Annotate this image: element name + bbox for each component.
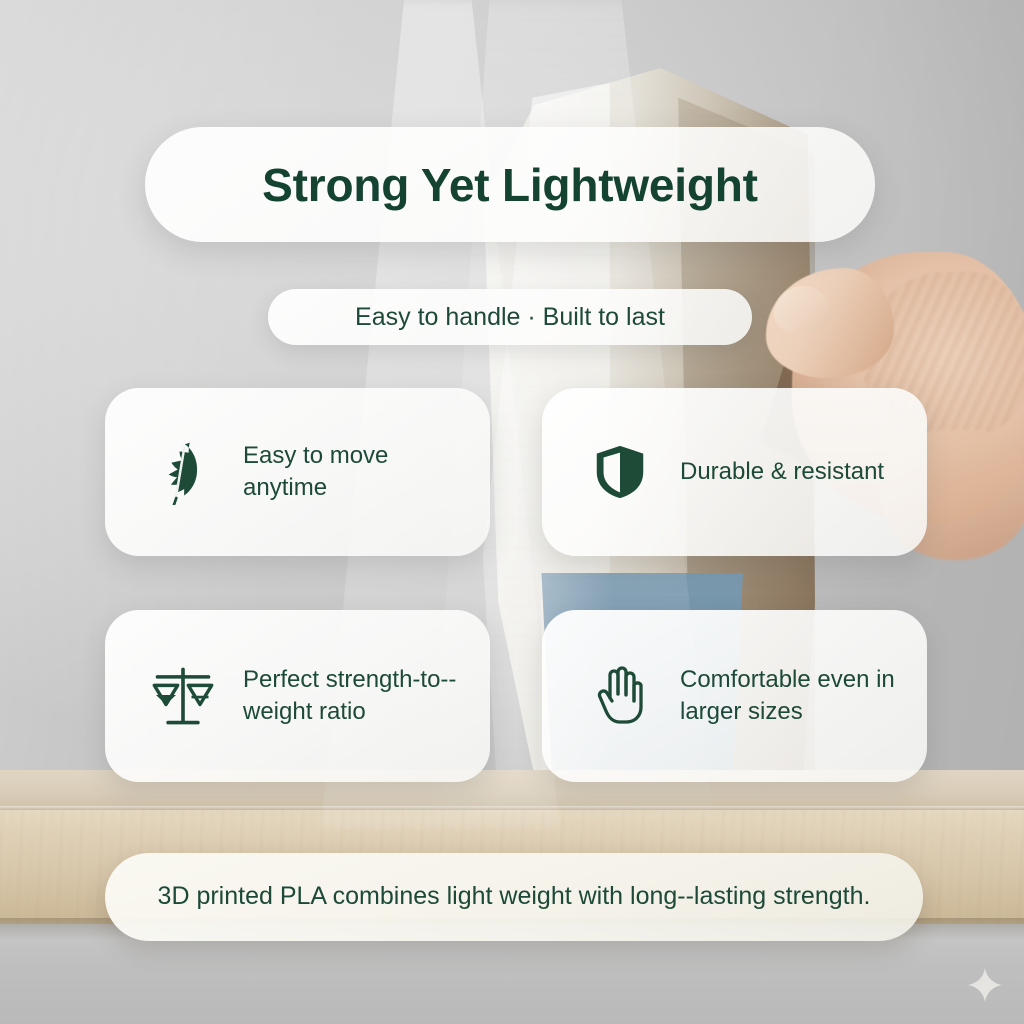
feature-card-grid: Easy to move anytime Durable & resistant xyxy=(105,388,927,778)
sparkle-icon xyxy=(968,968,1002,1002)
page-title: Strong Yet Lightweight xyxy=(262,158,758,212)
balance-scales-icon xyxy=(145,658,221,734)
hand-thumbnail xyxy=(774,286,830,334)
subtitle-pill: Easy to handle · Built to last xyxy=(268,289,752,345)
feather-icon xyxy=(145,434,221,510)
open-hand-icon xyxy=(582,658,658,734)
footer-caption-pill: 3D printed PLA combines light weight wit… xyxy=(105,853,923,941)
feature-label: Perfect strength-to--weight ratio xyxy=(243,664,472,727)
feature-label: Comfortable even in larger sizes xyxy=(680,664,909,727)
footer-caption: 3D printed PLA combines light weight wit… xyxy=(114,880,915,914)
page-subtitle: Easy to handle · Built to last xyxy=(355,303,665,332)
feature-card-comfortable[interactable]: Comfortable even in larger sizes xyxy=(542,610,927,782)
feature-label: Easy to move anytime xyxy=(243,440,472,503)
feature-card-strength-to-weight[interactable]: Perfect strength-to--weight ratio xyxy=(105,610,490,782)
shield-icon xyxy=(582,434,658,510)
infographic-canvas: Strong Yet Lightweight Easy to handle · … xyxy=(0,0,1024,1024)
title-pill: Strong Yet Lightweight xyxy=(145,127,875,242)
feature-card-easy-to-move[interactable]: Easy to move anytime xyxy=(105,388,490,556)
feature-label: Durable & resistant xyxy=(680,456,884,488)
feature-card-durable[interactable]: Durable & resistant xyxy=(542,388,927,556)
